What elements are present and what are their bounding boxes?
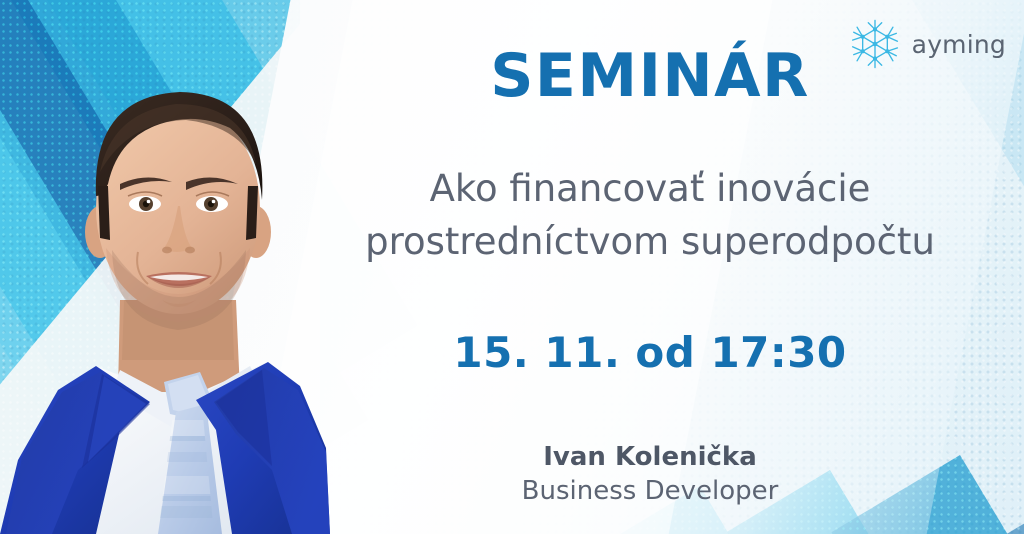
subtitle-line-1: Ako financovať inovácie [430,167,871,210]
speaker-portrait [0,0,330,534]
speaker-role: Business Developer [300,475,1000,509]
subtitle-line-2: prostredníctvom superodpočtu [300,216,1000,269]
speaker-info: Ivan Kolenička Business Developer [300,440,1000,509]
subtitle: Ako financovať inovácie prostredníctvom … [300,163,1000,268]
speaker-name: Ivan Kolenička [300,440,1000,475]
event-datetime: 15. 11. od 17:30 [300,328,1000,377]
page-title: SEMINÁR [300,46,1000,106]
content-block: SEMINÁR Ako financovať inovácie prostred… [300,0,1000,534]
seminar-banner: ayming SEMINÁR Ako financovať inovácie p… [0,0,1024,534]
